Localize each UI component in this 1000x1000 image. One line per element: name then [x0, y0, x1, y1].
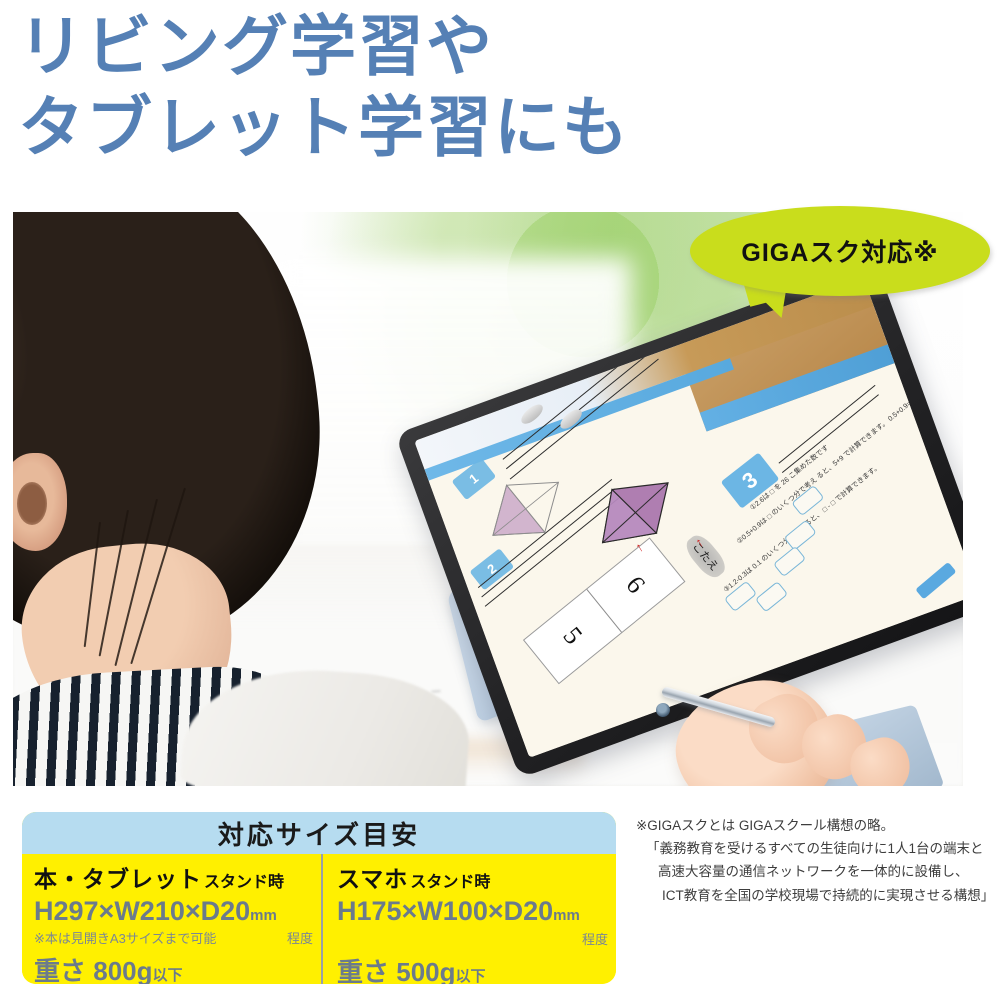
answer-digit: 6	[618, 570, 649, 599]
hair-highlight	[13, 212, 82, 468]
spec-dimension-value: H297×W210×D20	[34, 896, 250, 926]
spec-title-sub: スタンド時	[204, 868, 284, 892]
spec-weight: 重さ 500g以下	[337, 952, 608, 984]
badge-label: GIGAスク対応※	[741, 233, 938, 269]
headline-line-2: タブレット学習にも	[18, 87, 718, 168]
spec-weight-suffix: 以下	[153, 967, 183, 984]
spec-column-book-tablet: 本・タブレット スタンド時 H297×W210×D20mm ※本は見開きA3サイ…	[22, 854, 323, 984]
footnote: ※GIGAスクとは GIGAスクール構想の略。 「義務教育を受けるすべての生徒向…	[636, 814, 992, 907]
spec-dimension-value: H175×W100×D20	[337, 896, 553, 926]
footnote-line-1: ※GIGAスクとは GIGAスクール構想の略。	[636, 814, 992, 837]
hero-photo: 1 2 3	[13, 212, 963, 786]
spec-table: 対応サイズ目安 本・タブレット スタンド時 H297×W210×D20mm ※本…	[22, 812, 616, 984]
spec-weight-suffix: 以下	[456, 968, 486, 984]
spec-note-degree: 程度	[287, 928, 313, 947]
headline-line-1: リビング学習や	[18, 9, 494, 83]
marketing-banner: リビング学習や タブレット学習にも	[0, 0, 1000, 1000]
spec-weight-label: 重さ	[337, 957, 389, 984]
spec-dimensions: H297×W210×D20mm	[34, 896, 313, 927]
answer-digit: 5	[555, 621, 586, 650]
giga-badge: GIGAスク対応※	[690, 206, 990, 296]
spec-column-title: 本・タブレット スタンド時	[34, 860, 313, 894]
spec-weight-value: 500g	[396, 957, 455, 984]
spec-column-smartphone: スマホ スタンド時 H175×W100×D20mm 程度 重さ 500g以下	[323, 854, 616, 984]
spec-weight-label: 重さ	[34, 956, 86, 984]
page-title: リビング学習や タブレット学習にも	[18, 6, 718, 167]
footnote-line-2: 「義務教育を受けるすべての生徒向けに1人1台の端末と	[636, 837, 992, 860]
footnote-line-3: 高速大容量の通信ネットワークを一体的に設備し、	[636, 860, 992, 883]
spec-title-main: スマホ	[337, 860, 408, 894]
spec-weight: 重さ 800g以下	[34, 951, 313, 984]
spec-column-title: スマホ スタンド時	[337, 860, 608, 894]
spec-weight-value: 800g	[93, 956, 152, 984]
spec-note-degree: 程度	[337, 929, 608, 948]
footnote-line-4: ICT教育を全国の学校現場で持続的に実現させる構想」	[636, 884, 992, 907]
spec-dimension-unit: mm	[250, 907, 277, 924]
spec-title-main: 本・タブレット	[34, 860, 202, 894]
tablet-stand-assembly: 1 2 3	[431, 476, 963, 786]
spec-table-body: 本・タブレット スタンド時 H297×W210×D20mm ※本は見開きA3サイ…	[22, 854, 616, 984]
spec-table-header: 対応サイズ目安	[22, 812, 616, 854]
spec-note-row: ※本は見開きA3サイズまで可能 程度	[34, 928, 313, 947]
spec-table-title: 対応サイズ目安	[218, 815, 420, 852]
spec-dimensions: H175×W100×D20mm	[337, 896, 608, 927]
spec-dimension-unit: mm	[553, 907, 580, 924]
spec-title-sub: スタンド時	[410, 868, 490, 892]
spec-note: ※本は見開きA3サイズまで可能	[34, 928, 216, 947]
